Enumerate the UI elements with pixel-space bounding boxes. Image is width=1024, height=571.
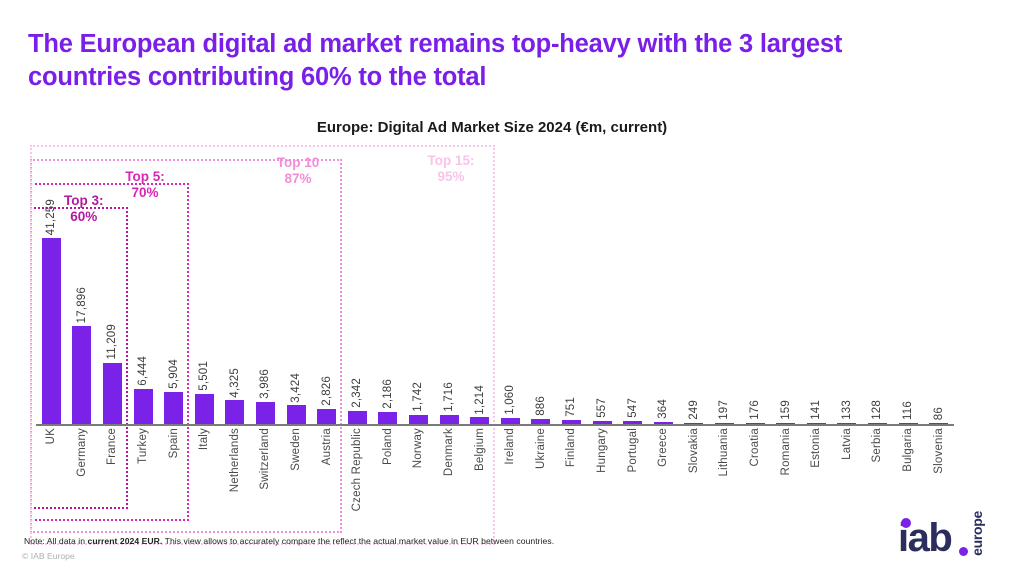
- bar-rect: [225, 400, 244, 424]
- bar-value-label: 197: [718, 400, 730, 420]
- bar-value-label: 41,259: [45, 199, 57, 235]
- category-label-text: Austria: [321, 428, 333, 465]
- bar-italy: 5,501: [195, 199, 214, 424]
- bar-slovakia: 249: [684, 199, 703, 424]
- bar-austria: 2,826: [317, 199, 336, 424]
- category-label-text: Serbia: [871, 428, 883, 462]
- category-label-text: Netherlands: [229, 428, 241, 492]
- bar-uk: 41,259: [42, 199, 61, 424]
- footnote-suffix: This view allows to accurately compare t…: [162, 536, 554, 546]
- category-label-denmark: Denmark: [434, 428, 465, 476]
- category-label-latvia: Latvia: [832, 428, 863, 460]
- iab-europe-logo: iab europe: [898, 508, 1002, 560]
- category-label-text: Hungary: [596, 428, 608, 473]
- bar-rect: [378, 412, 397, 424]
- bar-value-label: 3,986: [259, 369, 271, 399]
- category-label-greece: Greece: [648, 428, 679, 467]
- category-label-czech-republic: Czech Republic: [342, 428, 373, 511]
- bar-romania: 159: [776, 199, 795, 424]
- copyright-text: © IAB Europe: [22, 551, 75, 561]
- bar-value-label: 547: [627, 398, 639, 418]
- bar-value-label: 364: [657, 399, 669, 419]
- bar-value-label: 116: [902, 401, 914, 420]
- category-label-lithuania: Lithuania: [709, 428, 740, 476]
- bar-spain: 5,904: [164, 199, 183, 424]
- category-label-italy: Italy: [189, 428, 220, 450]
- category-label-ukraine: Ukraine: [526, 428, 557, 469]
- category-label-text: Ukraine: [535, 428, 547, 469]
- category-label-netherlands: Netherlands: [220, 428, 251, 492]
- bar-latvia: 133: [837, 199, 856, 424]
- bar-value-label: 1,742: [412, 382, 424, 412]
- category-label-text: Poland: [382, 428, 394, 465]
- bar-value-label: 1,060: [504, 385, 516, 415]
- bar-rect: [440, 415, 459, 424]
- category-label-slovenia: Slovenia: [923, 428, 954, 474]
- bar-germany: 17,896: [72, 199, 91, 424]
- category-label-text: Lithuania: [718, 428, 730, 476]
- bar-estonia: 141: [807, 199, 826, 424]
- bar-value-label: 3,424: [290, 373, 302, 403]
- footnote-prefix: Note: All data in: [24, 536, 87, 546]
- category-label-hungary: Hungary: [587, 428, 618, 473]
- bar-rect: [195, 394, 214, 424]
- category-label-estonia: Estonia: [801, 428, 832, 468]
- category-label-text: Germany: [76, 428, 88, 477]
- bar-rect: [348, 411, 367, 424]
- category-label-uk: UK: [36, 428, 67, 444]
- bar-value-label: 141: [810, 400, 822, 420]
- chart-category-labels: UKGermanyFranceTurkeySpainItalyNetherlan…: [36, 428, 954, 524]
- category-label-text: Czech Republic: [351, 428, 363, 511]
- bar-value-label: 5,904: [168, 359, 180, 389]
- bar-value-label: 557: [596, 398, 608, 418]
- bar-rect: [134, 389, 153, 424]
- bar-lithuania: 197: [715, 199, 734, 424]
- category-label-finland: Finland: [556, 428, 587, 467]
- category-label-portugal: Portugal: [617, 428, 648, 472]
- category-label-text: Romania: [780, 428, 792, 475]
- bar-portugal: 547: [623, 199, 642, 424]
- category-label-romania: Romania: [770, 428, 801, 475]
- category-label-text: Ireland: [504, 428, 516, 465]
- bar-value-label: 4,325: [229, 368, 241, 398]
- group-label-top15: Top 15: 95%: [413, 153, 489, 186]
- category-label-poland: Poland: [373, 428, 404, 465]
- bar-value-label: 176: [749, 400, 761, 420]
- bar-france: 11,209: [103, 199, 122, 424]
- category-label-text: Turkey: [137, 428, 149, 464]
- bar-sweden: 3,424: [287, 199, 306, 424]
- bar-chart: Top 3: 60%Top 5: 70%Top 10 87%Top 15: 95…: [22, 143, 962, 525]
- category-label-text: Norway: [412, 428, 424, 468]
- bar-serbia: 128: [868, 199, 887, 424]
- chart-plot-area: 41,25917,89611,2096,4445,9045,5014,3253,…: [36, 199, 954, 424]
- bar-rect: [256, 402, 275, 424]
- bar-switzerland: 3,986: [256, 199, 275, 424]
- bar-poland: 2,186: [378, 199, 397, 424]
- bar-value-label: 11,209: [106, 324, 118, 360]
- bar-value-label: 2,342: [351, 378, 363, 408]
- bar-hungary: 557: [593, 199, 612, 424]
- category-label-text: France: [106, 428, 118, 465]
- bar-rect: [470, 417, 489, 424]
- bar-croatia: 176: [746, 199, 765, 424]
- category-label-switzerland: Switzerland: [250, 428, 281, 490]
- bar-value-label: 17,896: [76, 287, 88, 323]
- bar-value-label: 6,444: [137, 356, 149, 386]
- bar-rect: [317, 409, 336, 424]
- category-label-austria: Austria: [311, 428, 342, 465]
- bar-value-label: 1,716: [443, 382, 455, 412]
- category-label-text: Croatia: [749, 428, 761, 466]
- category-label-text: Denmark: [443, 428, 455, 476]
- bar-belgium: 1,214: [470, 199, 489, 424]
- bar-rect: [103, 363, 122, 424]
- bar-rect: [164, 392, 183, 424]
- bar-rect: [287, 405, 306, 424]
- bar-turkey: 6,444: [134, 199, 153, 424]
- category-label-text: Portugal: [627, 428, 639, 472]
- bar-value-label: 249: [688, 400, 700, 420]
- bar-rect: [72, 326, 91, 424]
- category-label-text: Latvia: [841, 428, 853, 460]
- bar-ireland: 1,060: [501, 199, 520, 424]
- chart-baseline: [36, 424, 954, 426]
- bar-value-label: 128: [871, 400, 883, 420]
- bar-ukraine: 886: [531, 199, 550, 424]
- group-label-top5: Top 5: 70%: [107, 169, 183, 202]
- category-label-belgium: Belgium: [464, 428, 495, 471]
- footnote: Note: All data in current 2024 EUR. This…: [24, 536, 554, 546]
- category-label-germany: Germany: [67, 428, 98, 477]
- bar-value-label: 133: [841, 400, 853, 420]
- group-label-top10: Top 10 87%: [260, 155, 336, 188]
- bar-value-label: 86: [933, 407, 945, 420]
- bar-bulgaria: 116: [899, 199, 918, 424]
- bar-value-label: 2,186: [382, 379, 394, 409]
- category-label-text: Slovenia: [933, 428, 945, 474]
- category-label-serbia: Serbia: [862, 428, 893, 462]
- category-label-text: Estonia: [810, 428, 822, 468]
- bar-finland: 751: [562, 199, 581, 424]
- category-label-text: Italy: [198, 428, 210, 450]
- category-label-turkey: Turkey: [128, 428, 159, 464]
- bar-greece: 364: [654, 199, 673, 424]
- logo-region-label: europe: [970, 511, 984, 556]
- category-label-spain: Spain: [158, 428, 189, 458]
- bar-czech-republic: 2,342: [348, 199, 367, 424]
- category-label-text: Finland: [565, 428, 577, 467]
- bar-value-label: 2,826: [321, 376, 333, 406]
- bar-rect: [42, 238, 61, 424]
- category-label-slovakia: Slovakia: [679, 428, 710, 473]
- bar-netherlands: 4,325: [225, 199, 244, 424]
- category-label-text: Greece: [657, 428, 669, 467]
- category-label-sweden: Sweden: [281, 428, 312, 471]
- category-label-text: Sweden: [290, 428, 302, 471]
- bar-denmark: 1,716: [440, 199, 459, 424]
- category-label-text: Switzerland: [259, 428, 271, 490]
- category-label-croatia: Croatia: [740, 428, 771, 466]
- bar-value-label: 886: [535, 396, 547, 416]
- category-label-bulgaria: Bulgaria: [893, 428, 924, 472]
- bar-value-label: 1,214: [474, 385, 486, 415]
- bar-value-label: 159: [780, 400, 792, 420]
- bar-value-label: 5,501: [198, 361, 210, 391]
- bar-norway: 1,742: [409, 199, 428, 424]
- category-label-text: Belgium: [474, 428, 486, 471]
- category-label-text: Bulgaria: [902, 428, 914, 472]
- logo-i-dot-icon: [901, 518, 911, 528]
- category-label-norway: Norway: [403, 428, 434, 468]
- bar-rect: [409, 415, 428, 424]
- category-label-france: France: [97, 428, 128, 465]
- category-label-text: UK: [45, 428, 57, 444]
- page-title: The European digital ad market remains t…: [28, 28, 958, 93]
- category-label-text: Slovakia: [688, 428, 700, 473]
- logo-dot-icon: [959, 547, 968, 556]
- category-label-ireland: Ireland: [495, 428, 526, 465]
- bar-slovenia: 86: [929, 199, 948, 424]
- chart-title: Europe: Digital Ad Market Size 2024 (€m,…: [22, 119, 962, 136]
- bar-value-label: 751: [565, 397, 577, 417]
- footnote-emphasis: current 2024 EUR.: [87, 536, 162, 546]
- category-label-text: Spain: [168, 428, 180, 458]
